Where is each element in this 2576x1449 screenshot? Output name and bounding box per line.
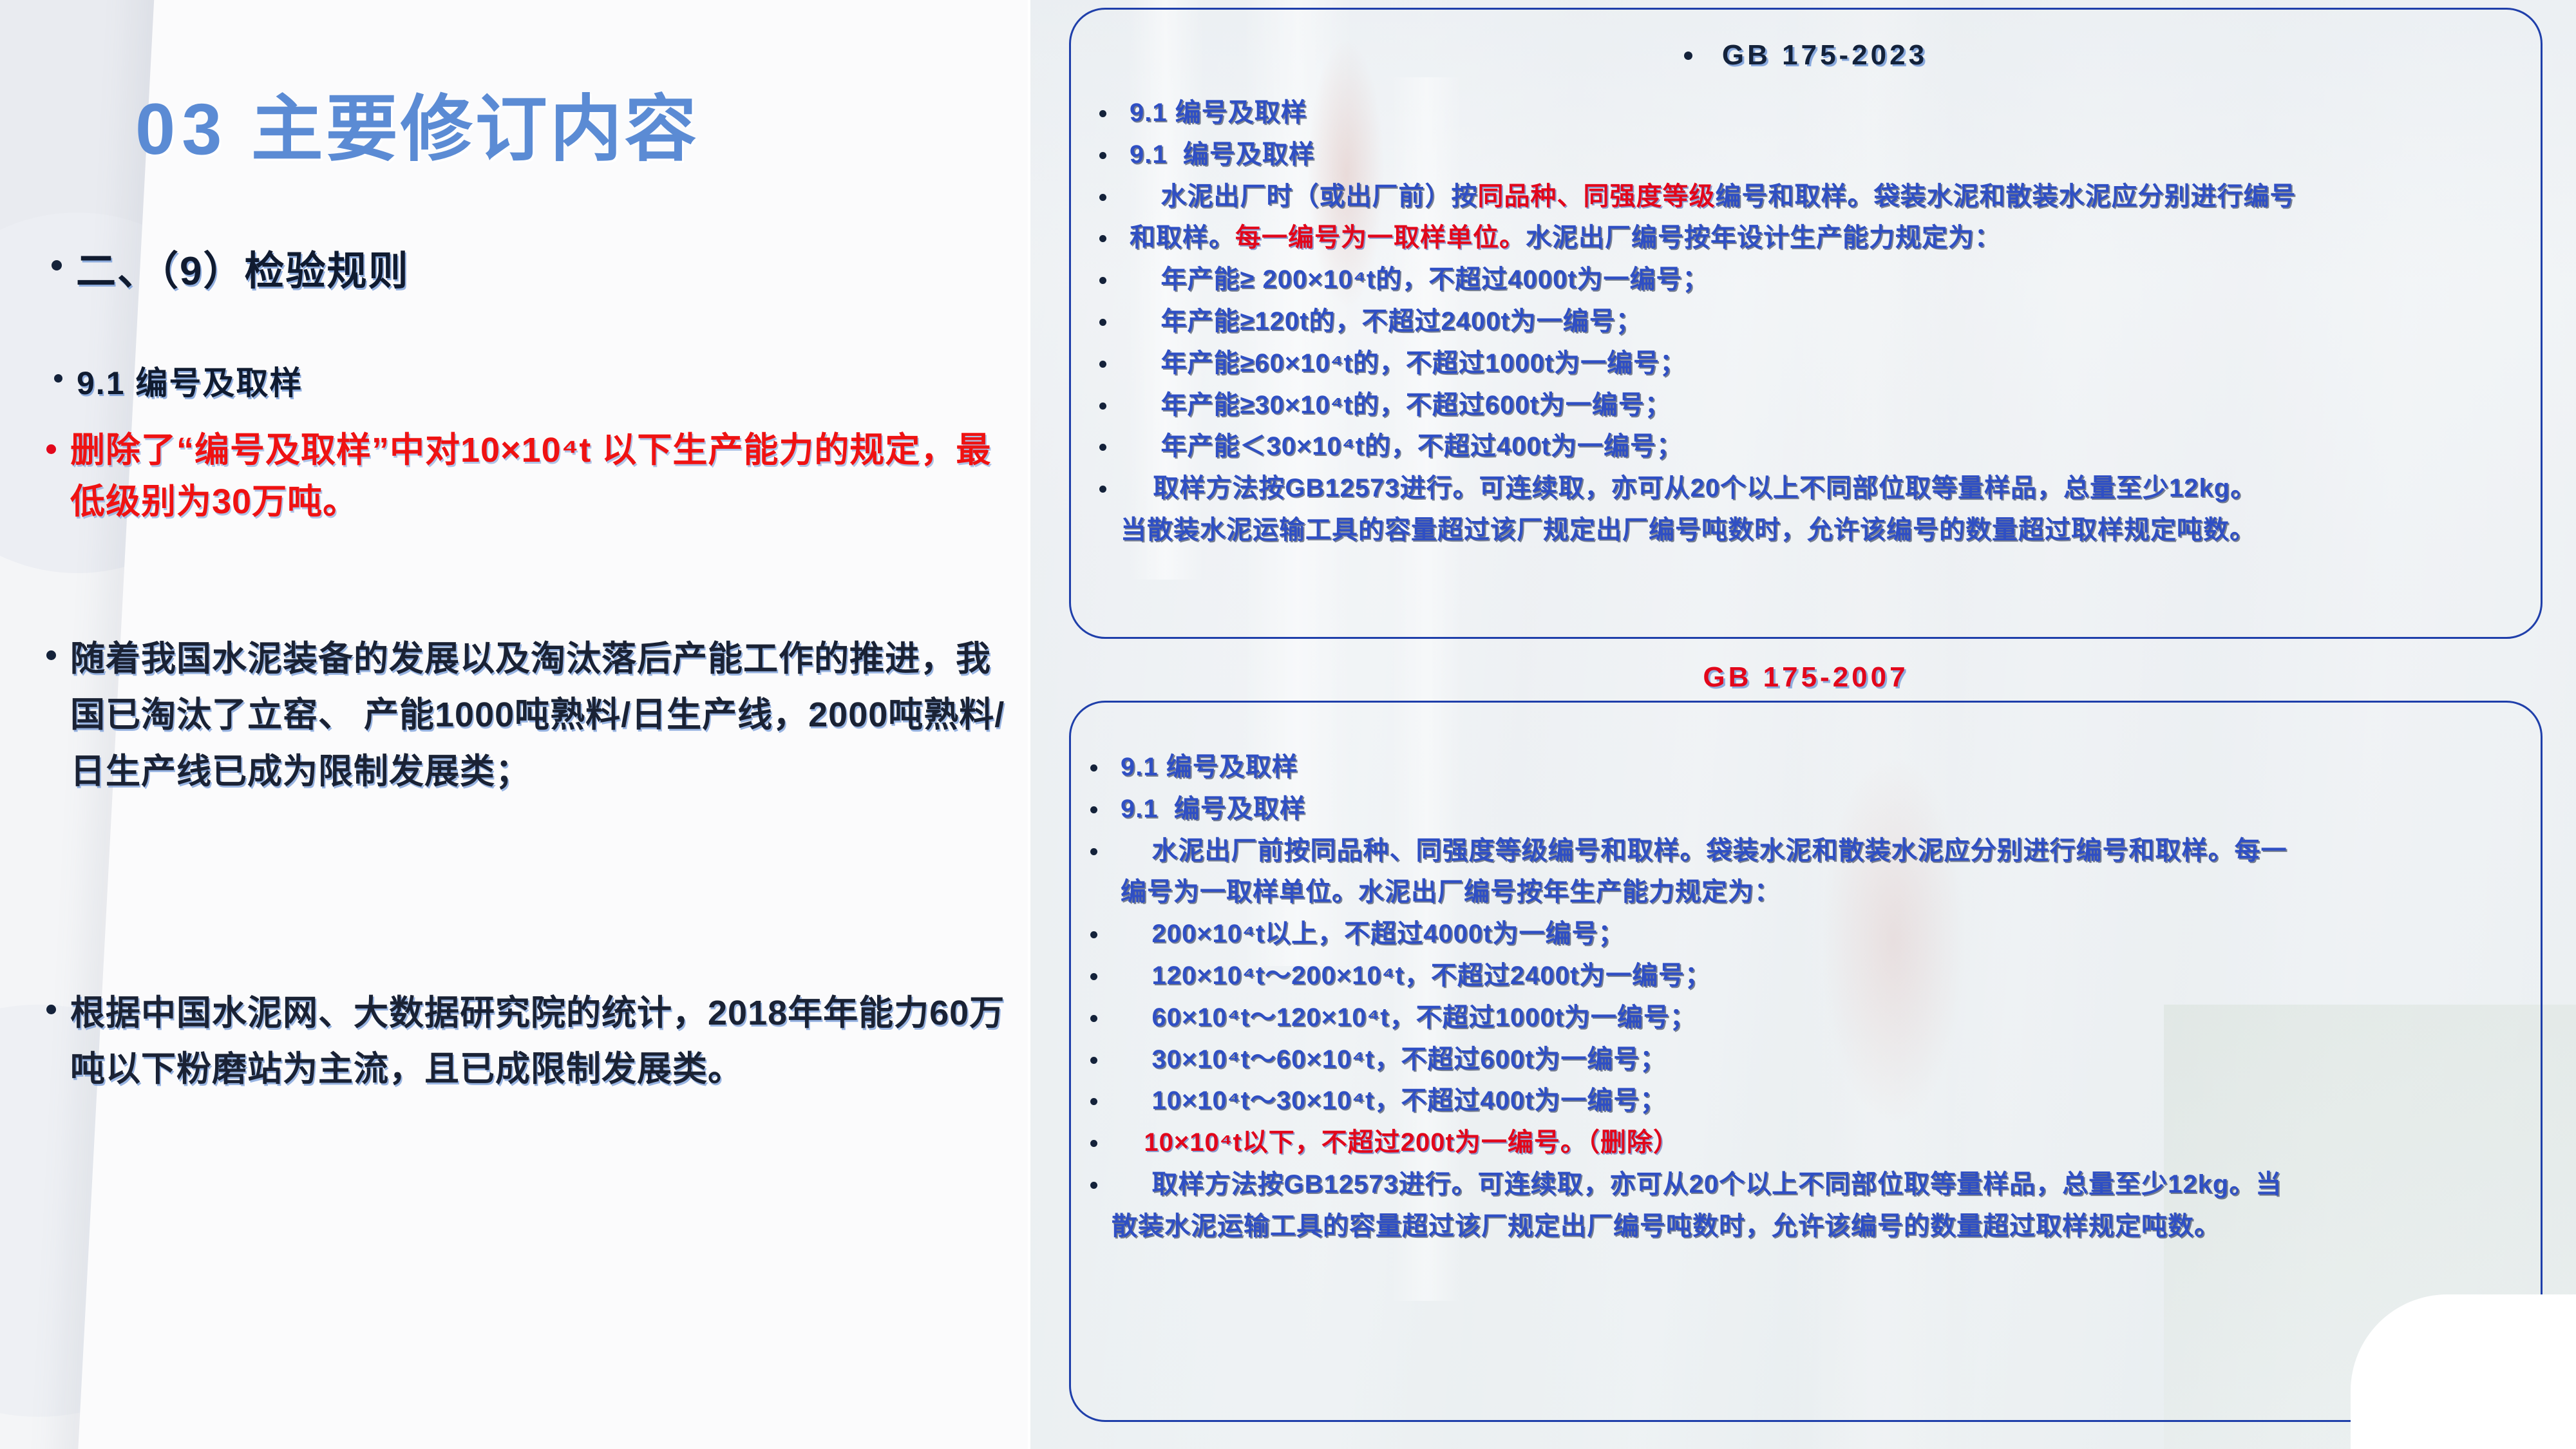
card-row: 200×10⁴t以上，不超过4000t为一编号；	[1071, 916, 2541, 952]
row-text-segment: 120×10⁴t～200×10⁴t，不超过2400t为一编号；	[1121, 961, 1711, 990]
card-row: 年产能≥120t的，不超过2400t为一编号；	[1071, 303, 2541, 340]
row-text-segment: 9.1 编号及取样	[1121, 753, 1298, 781]
row-text-segment: 9.1 编号及取样	[1121, 795, 1306, 823]
card-row: 60×10⁴t～120×10⁴t，不超过1000t为一编号；	[1071, 999, 2541, 1036]
bullet-dot-icon	[1099, 402, 1106, 410]
card-row-text: 水泥出厂前按同品种、同强度等级编号和取样。袋装水泥和散装水泥应分别进行编号和取样…	[1121, 833, 2541, 869]
bottom-right-white-overlay	[2351, 1294, 2576, 1449]
card-row: 水泥出厂时（或出厂前）按同品种、同强度等级编号和取样。袋装水泥和散装水泥应分别进…	[1071, 178, 2541, 215]
slide-root: 03 主要修订内容 二、（9）检验规则 9.1 编号及取样 删除了“编号及取样”…	[0, 0, 2576, 1449]
card-row-text: 年产能≥120t的，不超过2400t为一编号；	[1130, 303, 2541, 340]
card-row-tail-text: 散装水泥运输工具的容量超过该厂规定出厂编号吨数时，允许该编号的数量超过取样规定吨…	[1112, 1208, 2541, 1245]
left-pane: 03 主要修订内容 二、（9）检验规则 9.1 编号及取样 删除了“编号及取样”…	[0, 0, 1030, 1449]
left-bullet-3-deleted-note: 删除了“编号及取样”中对10×10⁴t 以下生产能力的规定，最低级别为30万吨。	[46, 425, 1012, 528]
left-bullet-2-text: 9.1 编号及取样	[77, 357, 303, 404]
card-row-continuation: 编号为一取样单位。水泥出厂编号按年生产能力规定为：	[1071, 874, 2541, 911]
left-bullet-5-text: 根据中国水泥网、大数据研究院的统计，2018年年能力60万吨以下粉磨站为主流，且…	[70, 985, 1025, 1098]
card-row: 年产能≥ 200×10⁴t的，不超过4000t为一编号；	[1071, 261, 2541, 298]
row-text-segment: 和取样。	[1130, 223, 1235, 252]
bullet-dot-icon	[1099, 361, 1106, 368]
left-bullet-5: 根据中国水泥网、大数据研究院的统计，2018年年能力60万吨以下粉磨站为主流，且…	[46, 985, 1025, 1098]
row-text-segment: 200×10⁴t以上，不超过4000t为一编号；	[1121, 920, 1624, 948]
bullet-dot-icon	[1099, 277, 1106, 284]
bullet-dot-icon	[46, 650, 56, 660]
card-row-text: 年产能＜30×10⁴t的，不超过400t为一编号；	[1130, 428, 2541, 465]
row-text-segment: 年产能≥60×10⁴t的，不超过1000t为一编号；	[1130, 349, 1686, 377]
card-row: 取样方法按GB12573进行。可连续取，亦可从20个以上不同部位取等量样品，总量…	[1071, 470, 2541, 507]
card-row-text: 取样方法按GB12573进行。可连续取，亦可从20个以上不同部位取等量样品，总量…	[1130, 470, 2541, 507]
card-row-text: 年产能≥ 200×10⁴t的，不超过4000t为一编号；	[1130, 261, 2541, 298]
card-row: 10×10⁴t以下，不超过200t为一编号。（删除）	[1071, 1124, 2541, 1161]
left-content: 03 主要修订内容 二、（9）检验规则 9.1 编号及取样 删除了“编号及取样”…	[0, 0, 1030, 1449]
bullet-dot-icon	[1099, 319, 1106, 326]
highlighted-text: 每一编号为一取样单位。	[1235, 223, 1526, 252]
card-row-tail: 当散装水泥运输工具的容量超过该厂规定出厂编号吨数时，允许该编号的数量超过取样规定…	[1071, 512, 2541, 549]
card-row-text: 和取样。每一编号为一取样单位。水泥出厂编号按年设计生产能力规定为：	[1130, 220, 2541, 256]
card-2007-rows: 9.1 编号及取样9.1 编号及取样 水泥出厂前按同品种、同强度等级编号和取样。…	[1071, 703, 2541, 1250]
card-gb175-2007: GB 175-2007 9.1 编号及取样9.1 编号及取样 水泥出厂前按同品种…	[1069, 701, 2543, 1422]
card-row: 30×10⁴t～60×10⁴t，不超过600t为一编号；	[1071, 1041, 2541, 1078]
card-row: 9.1 编号及取样	[1071, 137, 2541, 173]
bullet-dot-icon	[1090, 806, 1097, 813]
page-title-text: 主要修订内容	[251, 89, 699, 169]
card-row-text: 60×10⁴t～120×10⁴t，不超过1000t为一编号；	[1121, 999, 2541, 1036]
card-row-text: 200×10⁴t以上，不超过4000t为一编号；	[1121, 916, 2541, 952]
bullet-dot-icon	[1090, 1140, 1097, 1147]
bullet-dot-icon	[1090, 973, 1097, 980]
row-text-segment: 水泥出厂前按同品种、同强度等级编号和取样。袋装水泥和散装水泥应分别进行编号和取样…	[1121, 837, 2287, 865]
card-row-text: 9.1 编号及取样	[1130, 137, 2541, 173]
card-row-text: 年产能≥30×10⁴t的，不超过600t为一编号；	[1130, 387, 2541, 424]
card-row-text: 年产能≥60×10⁴t的，不超过1000t为一编号；	[1130, 345, 2541, 382]
bullet-dot-icon	[1090, 1057, 1097, 1064]
row-text-segment: 60×10⁴t～120×10⁴t，不超过1000t为一编号；	[1121, 1003, 1696, 1032]
bullet-dot-icon	[1090, 764, 1097, 772]
page-title-number: 03	[135, 89, 229, 169]
bullet-dot-icon	[1099, 486, 1106, 493]
bullet-dot-icon	[46, 1005, 56, 1014]
card-row-text: 9.1 编号及取样	[1121, 749, 2541, 786]
card-row-text: 10×10⁴t以下，不超过200t为一编号。（删除）	[1121, 1124, 2541, 1161]
row-text-segment: 水泥出厂时（或出厂前）按	[1130, 182, 1477, 211]
card-row-text: 120×10⁴t～200×10⁴t，不超过2400t为一编号；	[1121, 958, 2541, 994]
card-row: 120×10⁴t～200×10⁴t，不超过2400t为一编号；	[1071, 958, 2541, 994]
card-row-tail: 散装水泥运输工具的容量超过该厂规定出厂编号吨数时，允许该编号的数量超过取样规定吨…	[1071, 1208, 2541, 1245]
card-row: 年产能＜30×10⁴t的，不超过400t为一编号；	[1071, 428, 2541, 465]
left-bullet-3-text: 删除了“编号及取样”中对10×10⁴t 以下生产能力的规定，最低级别为30万吨。	[70, 425, 1012, 528]
page-title: 03 主要修订内容	[135, 71, 699, 175]
bullet-dot-icon	[1099, 194, 1106, 201]
card-2007-title-text: GB 175-2007	[1703, 661, 1908, 694]
card-2023-rows: 9.1 编号及取样9.1 编号及取样 水泥出厂时（或出厂前）按同品种、同强度等级…	[1071, 10, 2541, 554]
bullet-dot-icon	[1099, 152, 1106, 159]
row-text-segment: 取样方法按GB12573进行。可连续取，亦可从20个以上不同部位取等量样品，总量…	[1130, 474, 2257, 502]
card-row: 9.1 编号及取样	[1071, 791, 2541, 828]
bullet-dot-icon	[1090, 1182, 1097, 1189]
bullet-dot-icon	[1099, 110, 1106, 117]
left-bullet-4-text: 随着我国水泥装备的发展以及淘汰落后产能工作的推进，我国已淘汰了立窑、 产能100…	[70, 631, 1025, 800]
right-pane: GB 175-2023 9.1 编号及取样9.1 编号及取样 水泥出厂时（或出厂…	[1030, 0, 2576, 1449]
row-text-segment: 年产能＜30×10⁴t的，不超过400t为一编号；	[1130, 432, 1683, 460]
card-row: 取样方法按GB12573进行。可连续取，亦可从20个以上不同部位取等量样品，总量…	[1071, 1166, 2541, 1203]
card-row: 9.1 编号及取样	[1071, 95, 2541, 131]
card-row-continuation-text: 编号为一取样单位。水泥出厂编号按年生产能力规定为：	[1121, 874, 2541, 911]
card-row-text: 取样方法按GB12573进行。可连续取，亦可从20个以上不同部位取等量样品，总量…	[1121, 1166, 2541, 1203]
bullet-dot-icon	[46, 444, 56, 454]
bullet-dot-icon	[1090, 1098, 1097, 1105]
card-row: 水泥出厂前按同品种、同强度等级编号和取样。袋装水泥和散装水泥应分别进行编号和取样…	[1071, 833, 2541, 869]
bullet-dot-icon	[54, 374, 62, 383]
card-row-text: 水泥出厂时（或出厂前）按同品种、同强度等级编号和取样。袋装水泥和散装水泥应分别进…	[1130, 178, 2541, 215]
left-bullet-2: 9.1 编号及取样	[54, 357, 1007, 404]
card-row-text: 9.1 编号及取样	[1130, 95, 2541, 131]
row-text-segment: 编号和取样。袋装水泥和散装水泥应分别进行编号	[1715, 182, 2296, 211]
bullet-dot-icon	[1099, 444, 1106, 451]
row-text-segment: 30×10⁴t～60×10⁴t，不超过600t为一编号；	[1121, 1045, 1666, 1074]
card-row: 9.1 编号及取样	[1071, 749, 2541, 786]
card-2007-title: GB 175-2007	[1071, 661, 2541, 694]
bottom-right-white-overlay-fill	[2557, 1333, 2576, 1449]
bullet-dot-icon	[1090, 848, 1097, 855]
row-text-segment: 年产能≥30×10⁴t的，不超过600t为一编号；	[1130, 391, 1671, 419]
card-row: 年产能≥60×10⁴t的，不超过1000t为一编号；	[1071, 345, 2541, 382]
bullet-dot-icon	[1090, 931, 1097, 938]
left-bullet-1-text: 二、（9）检验规则	[76, 238, 409, 296]
row-text-segment: 9.1 编号及取样	[1130, 140, 1315, 169]
bullet-dot-icon	[52, 260, 62, 270]
card-row-text: 30×10⁴t～60×10⁴t，不超过600t为一编号；	[1121, 1041, 2541, 1078]
row-text-segment: 水泥出厂编号按年设计生产能力规定为：	[1526, 223, 2001, 252]
bullet-dot-icon	[1090, 1015, 1097, 1022]
bullet-dot-icon	[1099, 235, 1106, 242]
card-row: 10×10⁴t～30×10⁴t，不超过400t为一编号；	[1071, 1083, 2541, 1119]
row-text-segment: 9.1 编号及取样	[1130, 99, 1307, 127]
row-text-segment: 取样方法按GB12573进行。可连续取，亦可从20个以上不同部位取等量样品，总量…	[1121, 1170, 2282, 1198]
row-text-segment: 年产能≥120t的，不超过2400t为一编号；	[1130, 307, 1642, 336]
highlighted-text: 10×10⁴t以下，不超过200t为一编号。（删除）	[1121, 1128, 1680, 1157]
card-gb175-2023: GB 175-2023 9.1 编号及取样9.1 编号及取样 水泥出厂时（或出厂…	[1069, 8, 2543, 639]
highlighted-text: 同品种、同强度等级	[1477, 182, 1715, 211]
row-text-segment: 10×10⁴t～30×10⁴t，不超过400t为一编号；	[1121, 1086, 1666, 1115]
card-row-text: 9.1 编号及取样	[1121, 791, 2541, 828]
card-row-tail-text: 当散装水泥运输工具的容量超过该厂规定出厂编号吨数时，允许该编号的数量超过取样规定…	[1121, 512, 2541, 549]
left-bullet-1: 二、（9）检验规则	[52, 238, 1005, 296]
card-row: 和取样。每一编号为一取样单位。水泥出厂编号按年设计生产能力规定为：	[1071, 220, 2541, 256]
card-row-text: 10×10⁴t～30×10⁴t，不超过400t为一编号；	[1121, 1083, 2541, 1119]
card-row: 年产能≥30×10⁴t的，不超过600t为一编号；	[1071, 387, 2541, 424]
left-bullet-4: 随着我国水泥装备的发展以及淘汰落后产能工作的推进，我国已淘汰了立窑、 产能100…	[46, 631, 1025, 800]
row-text-segment: 年产能≥ 200×10⁴t的，不超过4000t为一编号；	[1130, 265, 1709, 294]
